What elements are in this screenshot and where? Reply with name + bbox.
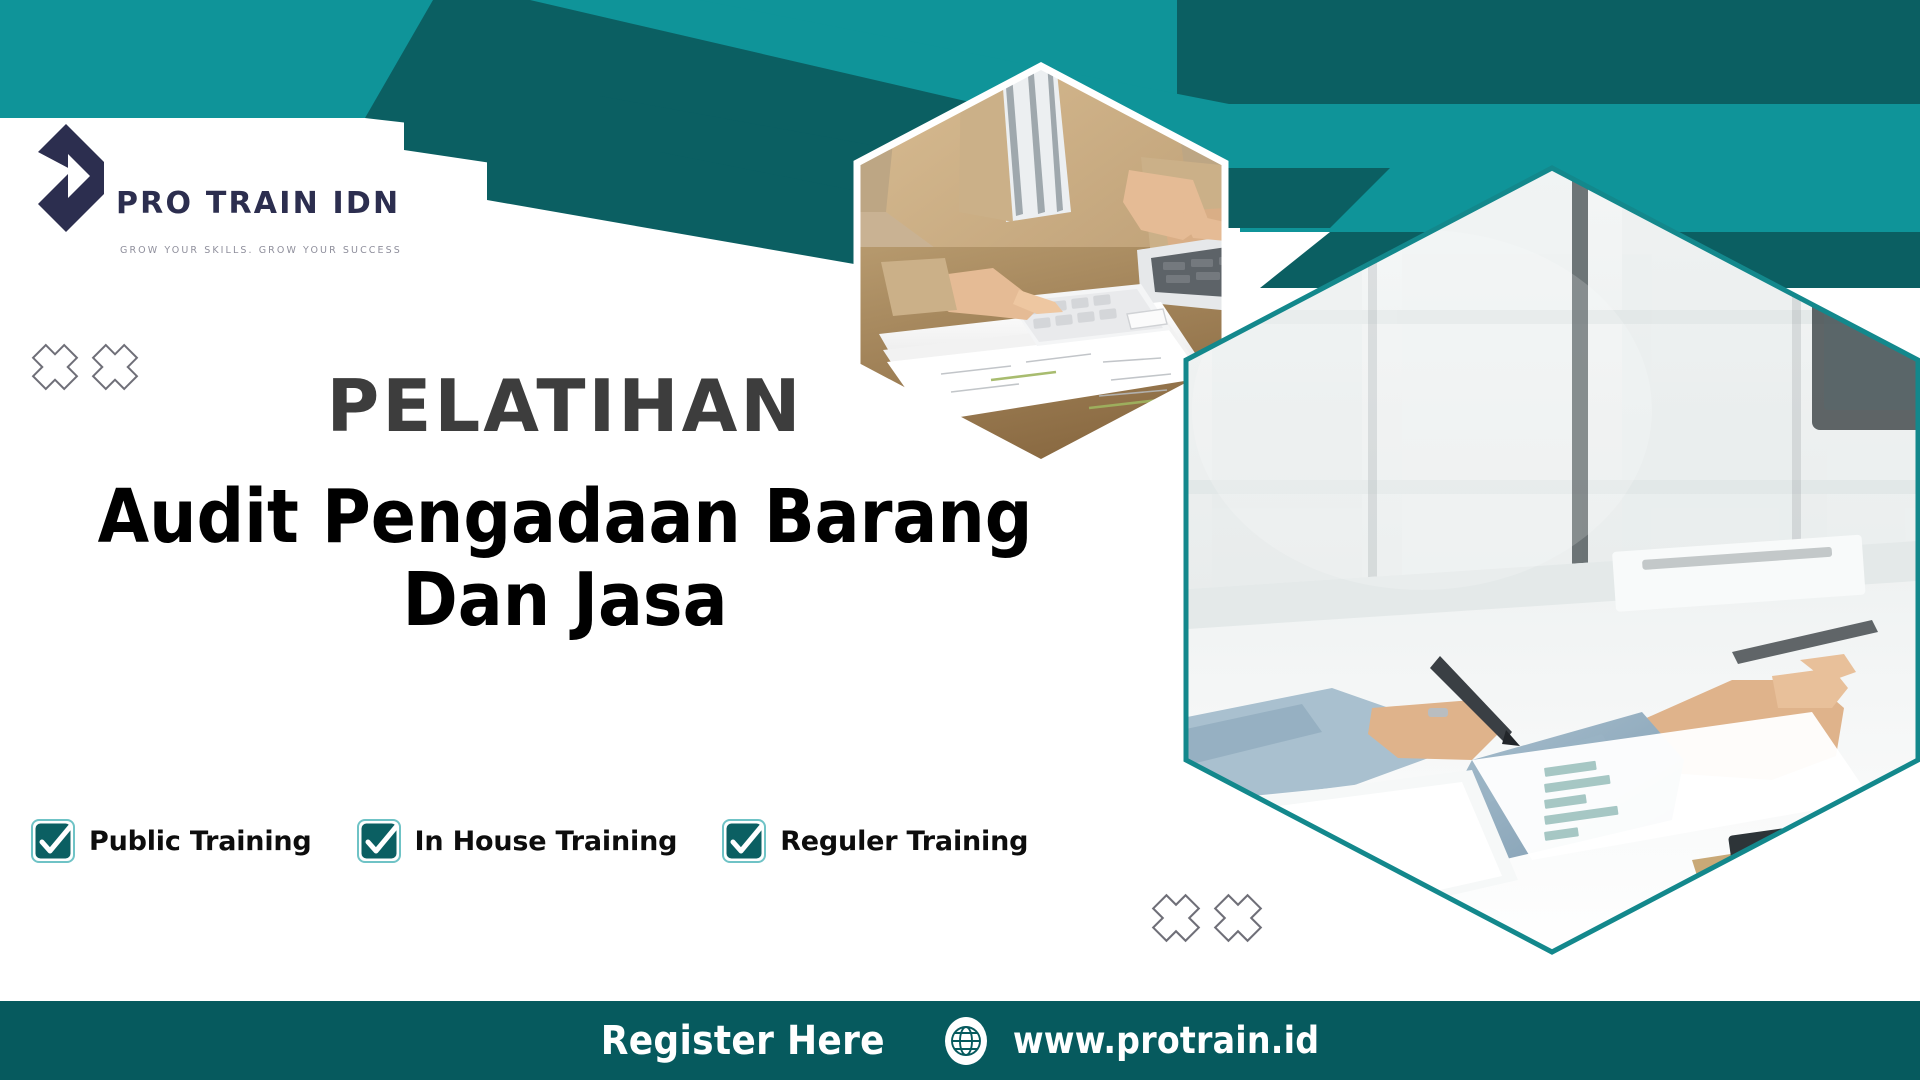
checkbox-checked-icon[interactable] [356,818,402,864]
website-url: www.protrain.id [1013,1019,1319,1062]
globe-icon [941,1016,991,1066]
training-types-row: Public Training In House Training Regule… [30,818,1028,864]
training-type-label: Reguler Training [780,826,1028,857]
eyebrow-pelatihan: PELATIHAN [0,370,1130,442]
course-title-line2: Dan Jasa [0,559,1130,642]
protrain-chevron-logo-icon [32,118,110,238]
x-cross-decoration-icon [1212,892,1264,944]
training-type-label: In House Training [415,826,678,857]
training-type-public[interactable]: Public Training [30,818,312,864]
x-cross-decoration-icon [1150,892,1202,944]
photo-hexagon-meeting [1172,160,1920,960]
logo-row: PRO TRAIN IDN [32,118,400,238]
band-top-left-light [0,0,620,118]
training-type-label: Public Training [89,826,312,857]
headline-section: PELATIHAN Audit Pengadaan Barang Dan Jas… [0,370,1130,642]
brand-name: PRO TRAIN IDN [116,189,400,219]
website-group[interactable]: www.protrain.id [941,1016,1319,1066]
course-title-line1: Audit Pengadaan Barang [0,476,1130,559]
brand-tagline: GROW YOUR SKILLS. GROW YOUR SUCCESS [120,245,402,256]
checkbox-checked-icon[interactable] [721,818,767,864]
training-type-in-house[interactable]: In House Training [356,818,678,864]
checkbox-checked-icon[interactable] [30,818,76,864]
brand-logo-block: PRO TRAIN IDN GROW YOUR SKILLS. GROW YOU… [32,118,372,256]
training-type-reguler[interactable]: Reguler Training [721,818,1028,864]
promotional-poster: PRO TRAIN IDN GROW YOUR SKILLS. GROW YOU… [0,0,1920,1080]
band-top-right-dark [1177,0,1920,104]
decoration-x-pair-right [1150,892,1264,944]
footer-register-bar: Register Here www.protrain.id [0,1001,1920,1080]
register-here-label: Register Here [601,1018,885,1064]
